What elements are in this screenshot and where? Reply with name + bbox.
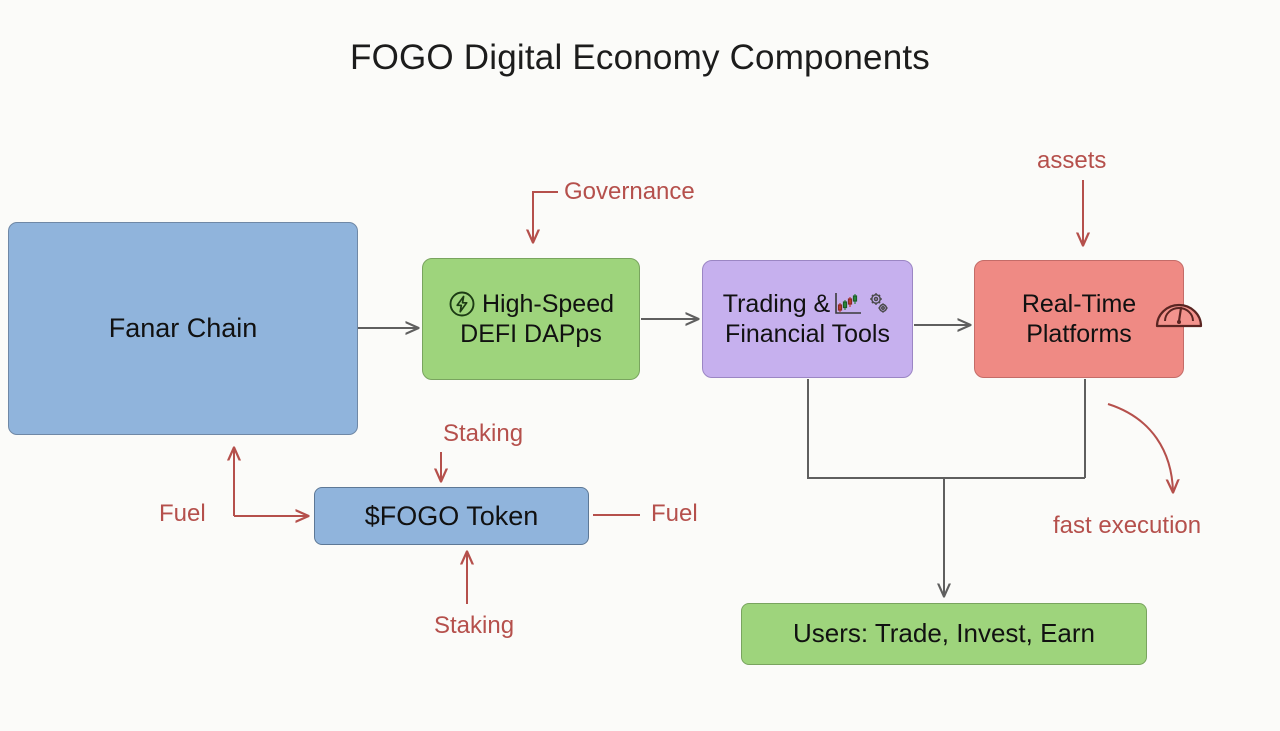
node-defi-label-line2: DEFI DAPps [460, 320, 602, 348]
edge-label-staking-bottom: Staking [434, 612, 514, 640]
node-trading-line1-row: Trading & [723, 289, 892, 320]
node-trading-label-line1: Trading & [723, 289, 830, 320]
connector-governance [533, 192, 558, 242]
node-high-speed-defi-dapps[interactable]: High-Speed DEFI DAPps [422, 258, 640, 380]
node-users-label: Users: Trade, Invest, Earn [793, 618, 1095, 650]
node-real-time-platforms-label: Real-Time Platforms [1022, 289, 1136, 350]
node-fogo-token[interactable]: $FOGO Token [314, 487, 589, 545]
page-title: FOGO Digital Economy Components [0, 38, 1280, 78]
node-trading-label-line2: Financial Tools [725, 320, 890, 348]
edge-label-staking-top: Staking [443, 420, 523, 448]
node-defi-label-line1: High-Speed [482, 289, 614, 320]
node-defi-content: High-Speed DEFI DAPps [448, 289, 614, 350]
diagram-canvas: FOGO Digital Economy Components [0, 0, 1280, 731]
edge-label-governance: Governance [564, 178, 695, 206]
node-defi-line1-row: High-Speed [448, 289, 614, 320]
gauge-icon [1153, 288, 1205, 334]
edge-label-fuel-left: Fuel [159, 500, 206, 528]
edge-label-fast-execution: fast execution [1053, 512, 1201, 540]
node-users[interactable]: Users: Trade, Invest, Earn [741, 603, 1147, 665]
lightning-bolt-icon [448, 290, 476, 318]
node-fanar-chain[interactable]: Fanar Chain [8, 222, 358, 435]
edge-label-fuel-right: Fuel [651, 500, 698, 528]
gears-icon [866, 291, 892, 317]
node-trading-financial-tools[interactable]: Trading & [702, 260, 913, 378]
node-fogo-token-label: $FOGO Token [365, 500, 539, 533]
connector-fast-execution [1108, 404, 1173, 492]
node-trading-content: Trading & [723, 289, 892, 350]
candlestick-chart-icon [833, 291, 863, 317]
edge-label-assets: assets [1037, 147, 1106, 175]
connector-merge-to-users [808, 379, 1085, 478]
node-fanar-chain-label: Fanar Chain [109, 312, 258, 345]
